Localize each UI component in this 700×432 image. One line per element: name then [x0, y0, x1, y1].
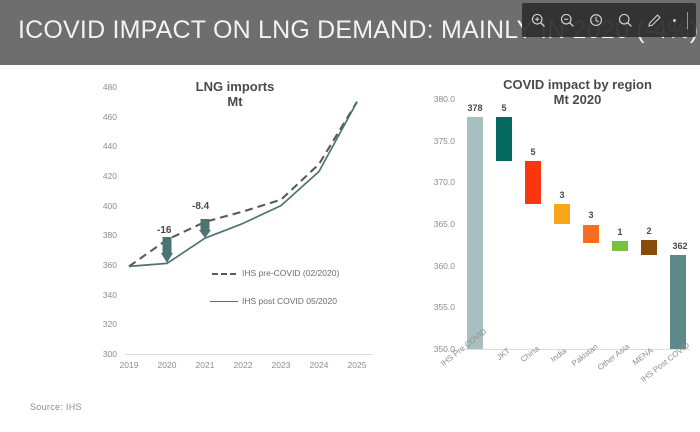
toolbar-divider [687, 12, 688, 29]
slide-canvas: Source: IHS LNG imports Mt 480 460 440 4… [0, 65, 700, 432]
floating-toolbar[interactable] [522, 3, 696, 37]
y-axis-tick: 480 [85, 82, 117, 92]
zoom-in-icon[interactable] [528, 10, 548, 30]
y-axis-tick: 420 [85, 171, 117, 181]
window-title-bar: ICOVID IMPACT ON LNG DEMAND: MAINLY IN 2… [0, 0, 700, 65]
annotation-arrow-2021 [199, 219, 211, 238]
bar-value-label: 5 [518, 147, 548, 157]
line-series-svg [125, 87, 373, 354]
y-axis-tick: 365.0 [415, 219, 455, 229]
y-axis-tick: 440 [85, 141, 117, 151]
bar-ihs-post-covid[interactable] [670, 255, 686, 349]
y-axis-tick: 370.0 [415, 177, 455, 187]
bar-jkt[interactable] [496, 117, 512, 161]
bar-pakistan[interactable] [583, 225, 599, 243]
y-axis-tick: 375.0 [415, 136, 455, 146]
source-note: Source: IHS [30, 402, 82, 412]
annotation-label-2020: -16 [157, 225, 171, 236]
edit-pencil-icon[interactable] [644, 10, 664, 30]
x-axis-tick: 2021 [185, 360, 225, 370]
bar-other-asia[interactable] [612, 241, 628, 251]
bar-value-label: 3 [576, 210, 606, 220]
history-icon[interactable] [586, 10, 606, 30]
x-axis-tick: China [519, 344, 541, 364]
y-axis-tick: 460 [85, 112, 117, 122]
bar-india[interactable] [554, 204, 570, 225]
y-axis-tick: 355.0 [415, 302, 455, 312]
y-axis-tick: 360 [85, 260, 117, 270]
x-axis-tick: 2024 [299, 360, 339, 370]
search-icon[interactable] [615, 10, 635, 30]
bar-mena[interactable] [641, 240, 657, 255]
y-axis-tick: 300 [85, 349, 117, 359]
x-axis-tick: 2022 [223, 360, 263, 370]
y-axis-tick: 400 [85, 201, 117, 211]
bar-value-label: 362 [663, 241, 697, 251]
bar-value-label: 5 [489, 103, 519, 113]
legend-swatch-post-covid [210, 301, 238, 302]
x-axis-tick: 2019 [109, 360, 149, 370]
legend-label-pre-covid: IHS pre-COVID (02/2020) [242, 268, 339, 278]
bar-ihs-pre-covid[interactable] [467, 117, 483, 349]
y-axis-tick: 340 [85, 290, 117, 300]
x-axis-tick: 2023 [261, 360, 301, 370]
x-axis-line [125, 354, 373, 355]
zoom-out-icon[interactable] [557, 10, 577, 30]
bar-value-label: 3 [547, 190, 577, 200]
chart-lng-imports: LNG imports Mt 480 460 440 420 400 380 3… [85, 77, 385, 382]
legend-swatch-pre-covid [212, 273, 236, 275]
y-axis-tick: 380 [85, 230, 117, 240]
bar-china[interactable] [525, 161, 541, 204]
x-axis-line [462, 349, 690, 350]
x-axis-tick: 2020 [147, 360, 187, 370]
line-plot-area [125, 87, 373, 354]
annotation-arrow-2020 [161, 237, 173, 263]
chart-covid-impact-by-region: COVID impact by region Mt 2020 380.0 375… [415, 77, 695, 417]
y-axis-tick: 320 [85, 319, 117, 329]
x-axis-tick: Other Asia [596, 342, 631, 372]
bar-value-label: 1 [605, 227, 635, 237]
annotation-label-2021: -8.4 [192, 201, 209, 212]
bar-value-label: 2 [634, 226, 664, 236]
y-axis-tick: 380.0 [415, 94, 455, 104]
more-options-icon[interactable] [673, 19, 676, 22]
screenshot-root: ICOVID IMPACT ON LNG DEMAND: MAINLY IN 2… [0, 0, 700, 432]
y-axis-tick: 360.0 [415, 261, 455, 271]
x-axis-tick: 2025 [337, 360, 377, 370]
legend-label-post-covid: IHS post COVID 05/2020 [242, 296, 337, 306]
bar-value-label: 378 [460, 103, 490, 113]
